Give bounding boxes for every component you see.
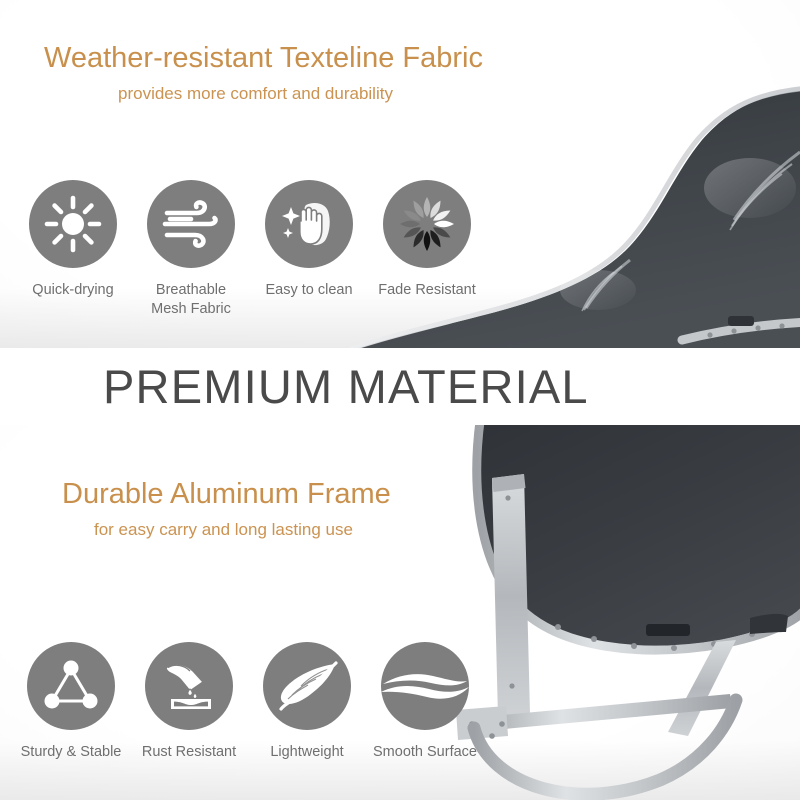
feature-fade-resistant: Fade Resistant [368,180,486,319]
feature-label: Lightweight [270,743,343,762]
bottom-heading-block: Durable Aluminum Frame for easy carry an… [62,478,391,540]
feature-label: Breathable Mesh Fabric [151,281,231,319]
premium-material-banner: PREMIUM MATERIAL [0,348,800,425]
top-feature-row: Quick-drying Breathable M [14,180,486,319]
top-heading: Weather-resistant Texteline Fabric [44,42,483,75]
water-pour-icon [145,642,233,730]
feature-quick-drying: Quick-drying [14,180,132,319]
cleaning-hand-icon [265,180,353,268]
feature-easy-to-clean: Easy to clean [250,180,368,319]
feature-label: Rust Resistant [142,743,236,762]
feature-sturdy-stable: Sturdy & Stable [12,642,130,762]
feature-rust-resistant: Rust Resistant [130,642,248,762]
banner-title: PREMIUM MATERIAL [103,363,589,410]
feature-label: Quick-drying [32,281,113,300]
triangle-nodes-icon [27,642,115,730]
bottom-subheading: for easy carry and long lasting use [94,520,391,540]
sun-icon [29,180,117,268]
feature-label: Sturdy & Stable [21,743,122,762]
product-infographic: Weather-resistant Texteline Fabric provi… [0,0,800,800]
feature-breathable-mesh: Breathable Mesh Fabric [132,180,250,319]
bottom-feature-row: Sturdy & Stable Rust Resistant [12,642,484,762]
feature-label: Smooth Surface [373,743,477,762]
wind-icon [147,180,235,268]
top-heading-block: Weather-resistant Texteline Fabric provi… [44,42,483,104]
feature-label: Fade Resistant [378,281,476,300]
feather-icon [263,642,351,730]
bottom-heading: Durable Aluminum Frame [62,478,391,511]
feature-lightweight: Lightweight [248,642,366,762]
top-subheading: provides more comfort and durability [118,84,483,104]
wave-icon [381,642,469,730]
color-fade-wheel-icon [383,180,471,268]
feature-smooth-surface: Smooth Surface [366,642,484,762]
feature-label: Easy to clean [265,281,352,300]
